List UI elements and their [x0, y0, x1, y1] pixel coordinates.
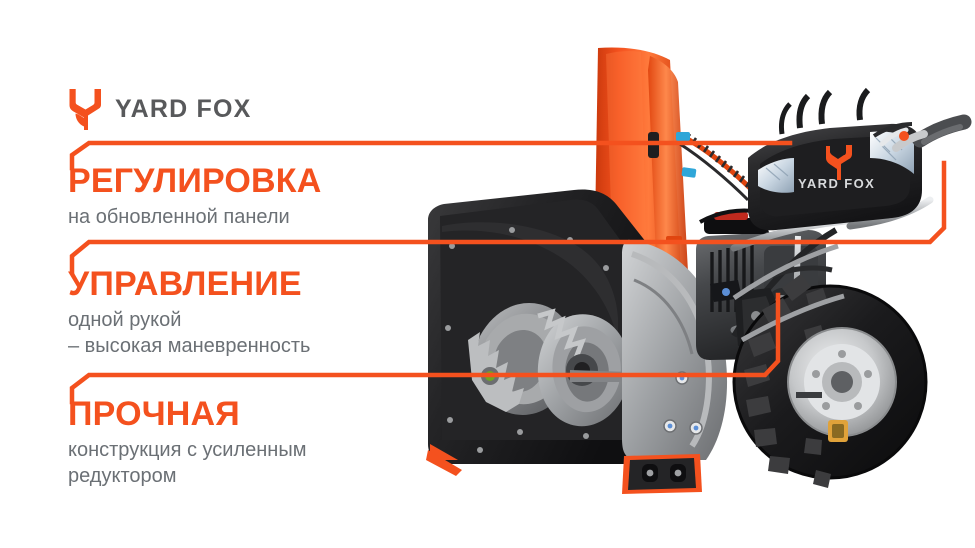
product-image-snowblower: YARD FOX [330, 40, 975, 530]
control-console: YARD FOX [748, 90, 922, 230]
promo-banner: YARD FOX [0, 0, 975, 548]
callout-block-1: РЕГУЛИРОВКА на обновленной панели [68, 163, 322, 230]
fox-leaf-logo-icon [68, 88, 102, 130]
callout-1-heading: РЕГУЛИРОВКА [68, 163, 322, 199]
callout-block-2: УПРАВЛЕНИЕ одной рукой – высокая маневре… [68, 266, 310, 360]
callout-3-subline-2: редуктором [68, 463, 306, 489]
callout-block-3: ПРОЧНАЯ конструкция с усиленным редуктор… [68, 396, 306, 490]
console-brand-label: YARD FOX [798, 176, 875, 191]
callout-3-subline-1: конструкция с усиленным [68, 437, 306, 463]
callout-2-subline-2: – высокая маневренность [68, 333, 310, 359]
callout-2-heading: УПРАВЛЕНИЕ [68, 266, 310, 302]
brand-wordmark: YARD FOX [115, 97, 251, 122]
brand-logo: YARD FOX [68, 88, 251, 130]
lower-skid-bracket [622, 454, 702, 494]
callout-2-subline-1: одной рукой [68, 307, 310, 333]
callout-1-subline-1: на обновленной панели [68, 204, 322, 230]
callout-3-heading: ПРОЧНАЯ [68, 396, 306, 432]
